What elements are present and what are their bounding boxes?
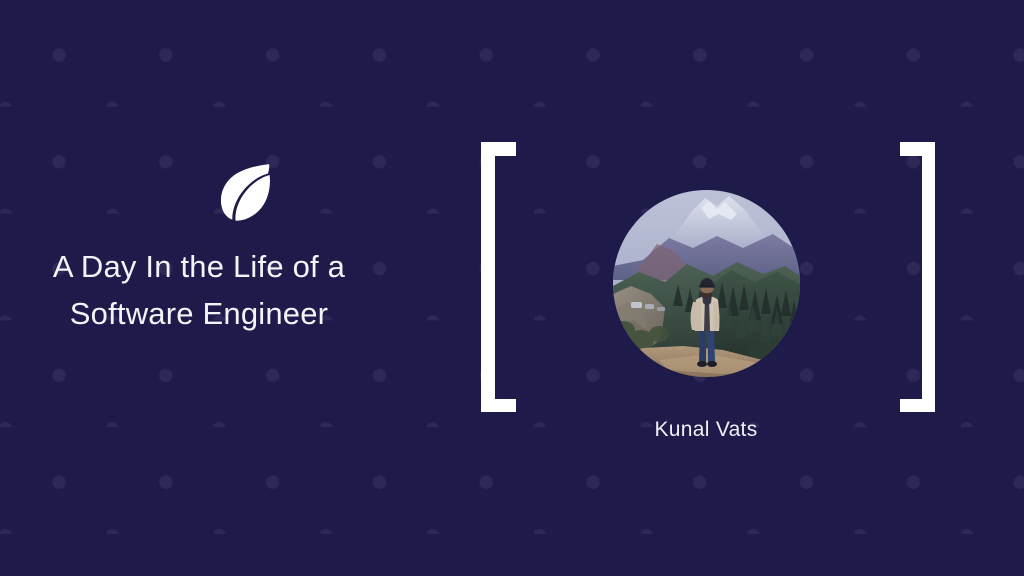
right-bracket-bottom-arm [900, 399, 935, 413]
right-bracket-decoration [900, 142, 935, 412]
left-bracket-decoration [481, 142, 516, 412]
title-column: A Day In the Life of a Software Engineer [0, 0, 470, 576]
left-bracket-bar [481, 142, 495, 412]
right-bracket-bar [922, 142, 936, 412]
portrait-column: Kunal Vats [470, 0, 1024, 576]
leaf-icon [219, 163, 271, 221]
presenter-name: Kunal Vats [566, 418, 846, 442]
title-slide: A Day In the Life of a Software Engineer [0, 0, 1024, 576]
left-bracket-bottom-arm [481, 399, 516, 413]
right-bracket-top-arm [900, 142, 935, 156]
left-bracket-top-arm [481, 142, 516, 156]
page-title: A Day In the Life of a Software Engineer [0, 243, 470, 337]
presenter-photo [613, 190, 800, 377]
